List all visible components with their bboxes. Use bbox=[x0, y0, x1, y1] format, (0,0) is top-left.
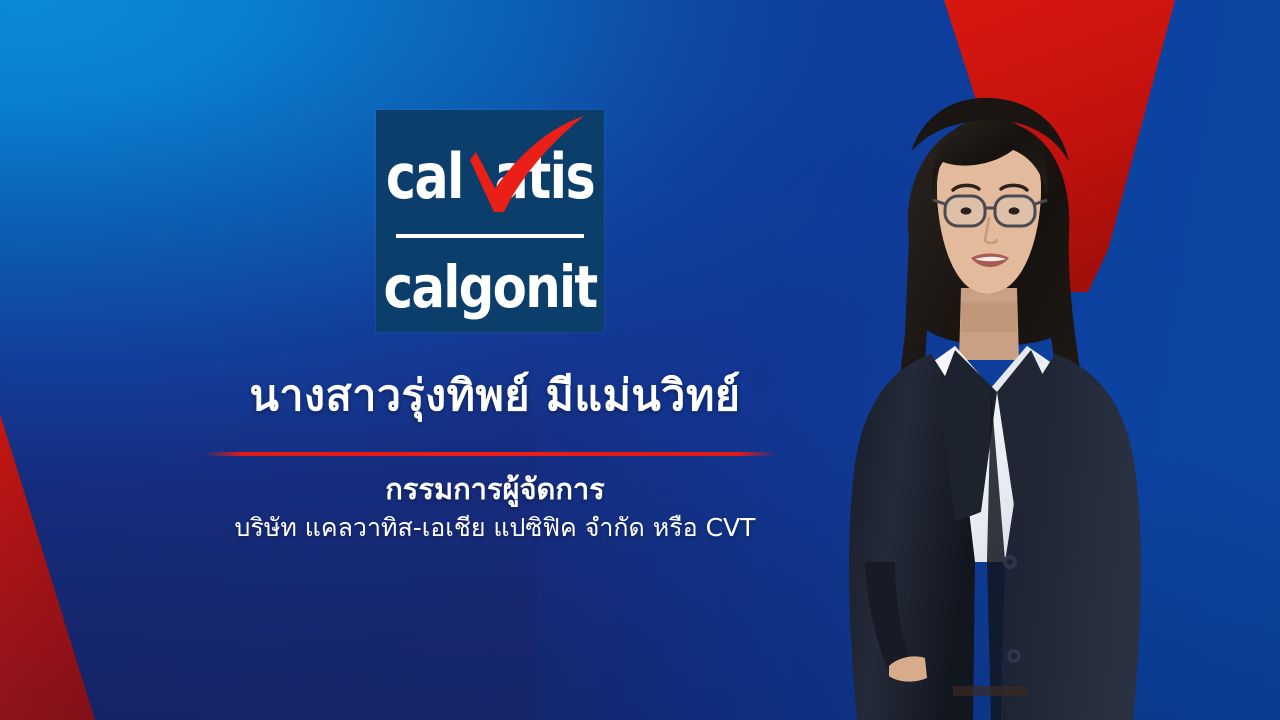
logo-wordmark-calvatis-prefix: cal bbox=[386, 140, 463, 213]
logo-wordmark-calvatis: calvatis bbox=[386, 146, 594, 208]
logo-wordmark-calgonit: calgonit bbox=[384, 258, 597, 316]
presentation-slide: calvatis calgonit นางสาวรุ่งทิพย์ มีแม่น… bbox=[0, 0, 1280, 720]
logo-wordmark-calvatis-suffix: atis bbox=[494, 140, 594, 213]
red-divider-line bbox=[203, 452, 777, 456]
person-role: กรรมการผู้จัดการ bbox=[0, 472, 990, 507]
calvatis-calgonit-logo: calvatis calgonit bbox=[376, 110, 604, 332]
person-company: บริษัท แคลวาทิส-เอเชีย แปซิฟิค จำกัด หรื… bbox=[0, 512, 990, 543]
logo-divider-rule bbox=[396, 234, 584, 238]
person-name: นางสาวรุ่งทิพย์ มีแม่นวิทย์ bbox=[0, 372, 990, 421]
